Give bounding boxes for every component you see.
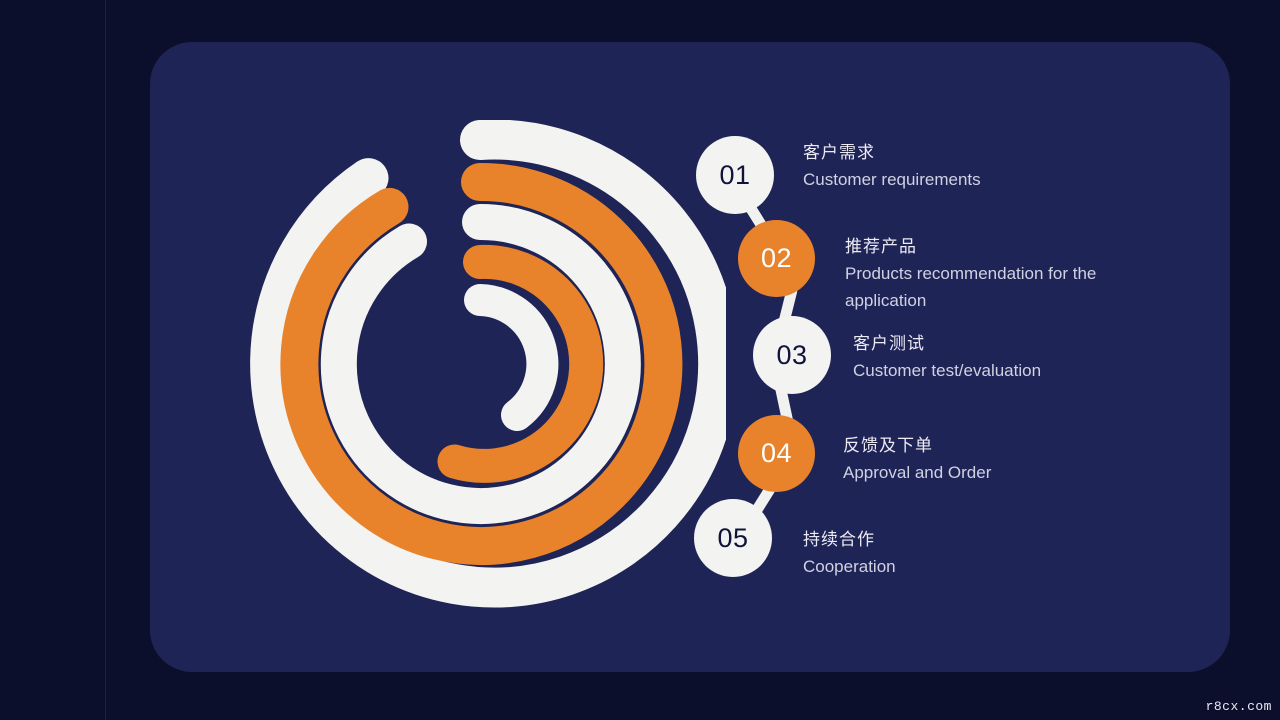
spiral-graphic xyxy=(236,120,726,610)
watermark: r8cx.com xyxy=(1206,699,1272,714)
left-vertical-rule xyxy=(105,0,106,720)
spiral-band-5 xyxy=(480,300,542,415)
slide-root: 01 客户需求 Customer requirements 02 推荐产品 Pr… xyxy=(0,0,1280,720)
